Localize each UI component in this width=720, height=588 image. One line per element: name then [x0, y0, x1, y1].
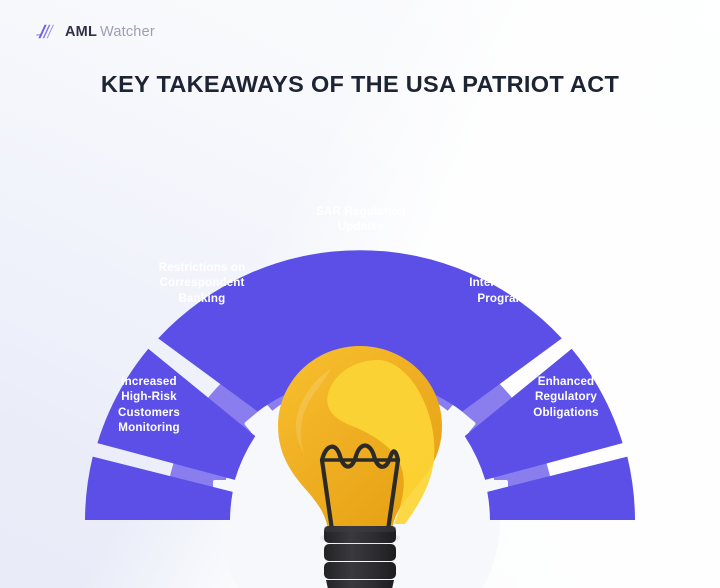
infographic-canvas: AMLWatcher KEY TAKEAWAYS OF THE USA PATR… [0, 0, 720, 588]
takeaways-wheel: Increased High-Risk Customers Monitoring… [70, 168, 650, 538]
page-title: KEY TAKEAWAYS OF THE USA PATRIOT ACT [0, 71, 720, 98]
brand-name-bold: AML [65, 24, 97, 40]
brand-logo: AMLWatcher [36, 23, 155, 41]
brand-name: AMLWatcher [65, 25, 155, 40]
wheel-svg [70, 168, 650, 538]
brand-name-light: Watcher [100, 24, 155, 40]
bulb-base [324, 526, 396, 588]
aml-watcher-slashes-icon [36, 23, 58, 41]
